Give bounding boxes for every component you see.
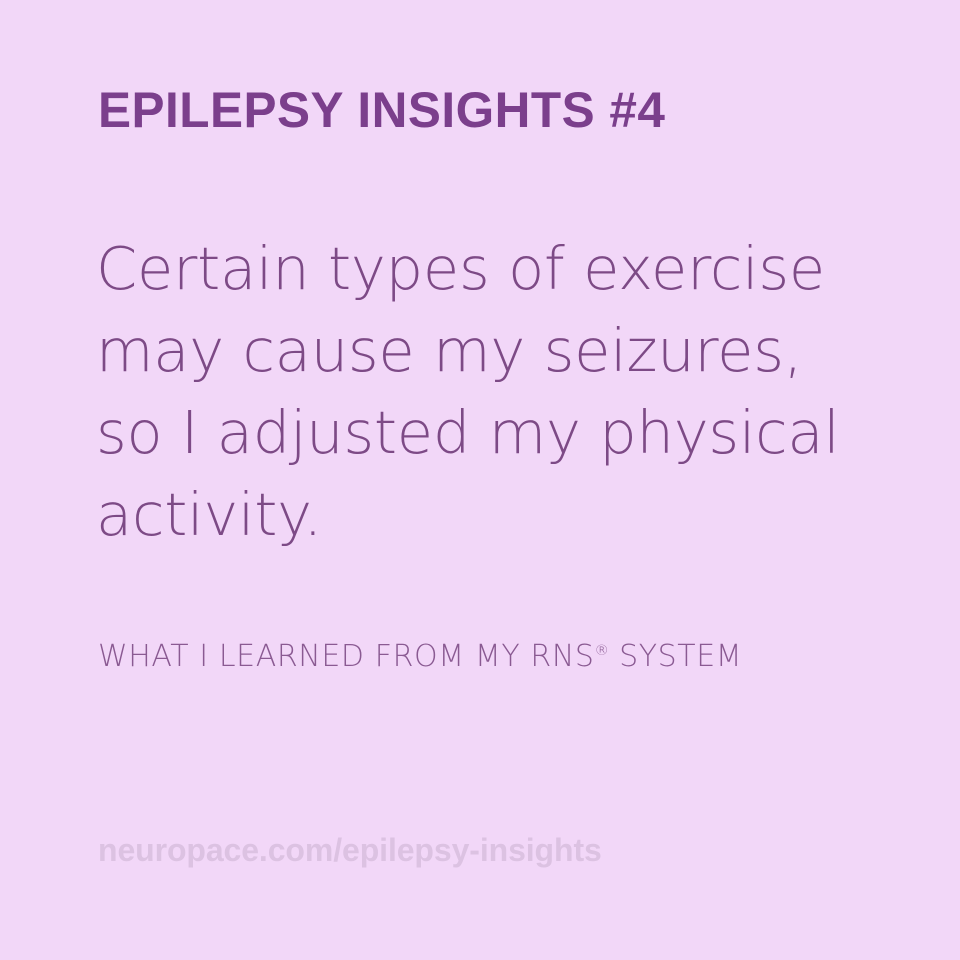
- website-url[interactable]: neuropace.com/epilepsy-insights: [98, 831, 602, 869]
- quote-line-1: Certain types of exercise: [96, 228, 886, 310]
- quote-line-4: activity.: [96, 474, 886, 556]
- quote-block: Certain types of exercise may cause my s…: [96, 228, 886, 556]
- page-title: EPILEPSY INSIGHTS #4: [98, 82, 665, 138]
- subtitle-text-after-mark: SYSTEM: [609, 639, 742, 674]
- registered-trademark-icon: ®: [595, 643, 609, 659]
- subtitle: WHAT I LEARNED FROM MY RNS® SYSTEM: [98, 640, 742, 674]
- quote-line-2: may cause my seizures,: [96, 310, 886, 392]
- quote-line-3: so I adjusted my physical: [96, 392, 886, 474]
- epilepsy-insights-card: EPILEPSY INSIGHTS #4 Certain types of ex…: [0, 0, 960, 960]
- subtitle-text-before-mark: WHAT I LEARNED FROM MY RNS: [98, 639, 595, 674]
